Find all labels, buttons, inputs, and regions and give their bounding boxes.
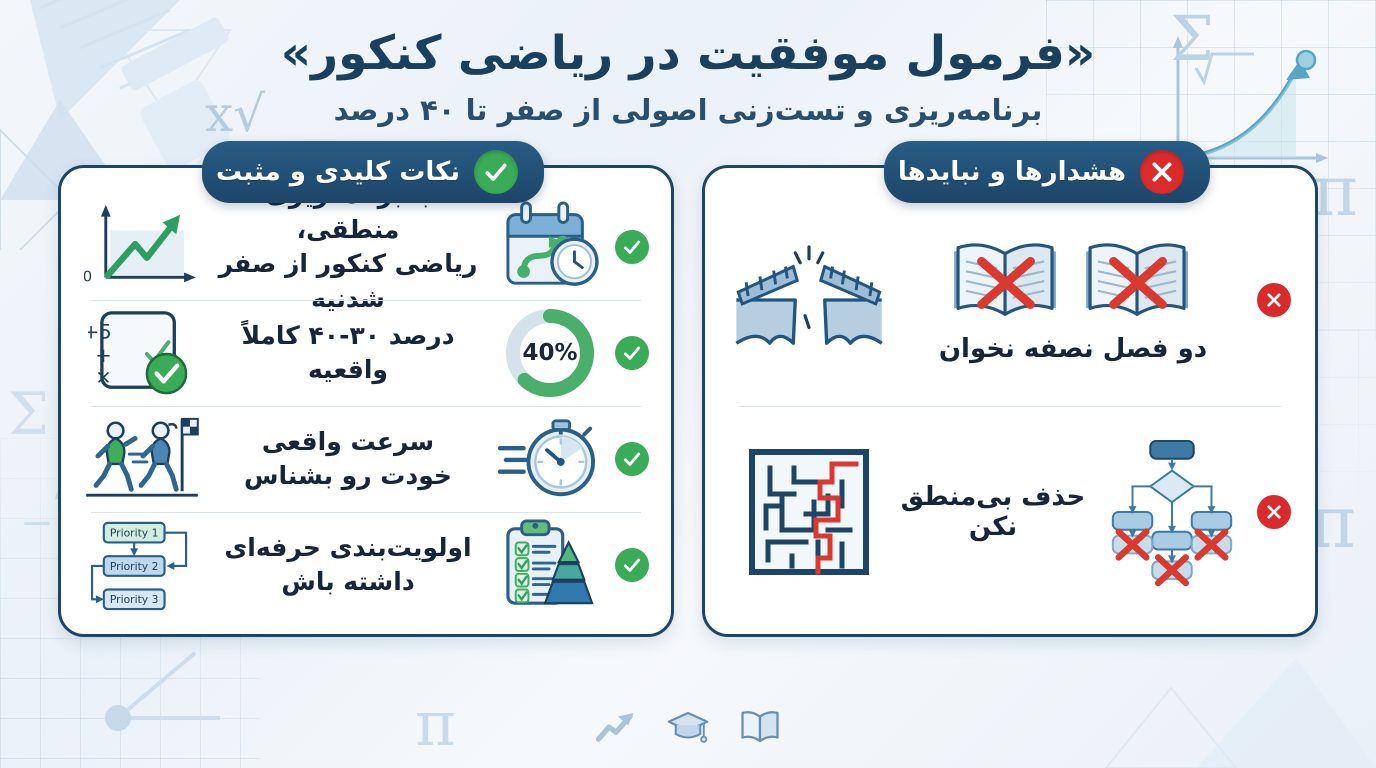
tip-row-4-line1: اولویت‌بندی حرفه‌ای (215, 531, 481, 566)
page-title: «فرمول موفقیت در ریاضی کنکور» (0, 25, 1376, 84)
warning-row-2[interactable]: حذف بی‌منطق نکن (721, 406, 1299, 618)
broken-bridge-icon (729, 245, 889, 355)
calculator-line-3: × ÷ (88, 366, 112, 389)
header: «فرمول موفقیت در ریاضی کنکور» برنامه‌ریز… (0, 0, 1376, 129)
tip-row-4[interactable]: اولویت‌بندی حرفه‌ای داشته باش Priority 1… (77, 512, 655, 618)
page-subtitle: برنامه‌ریزی و تست‌زنی اصولی از صفر تا ۴۰… (0, 92, 1376, 130)
calculator-line-1: 2+5= (88, 321, 112, 344)
crossed-books-icon (948, 236, 1198, 328)
warning-row-1-content: دو فصل نصفه نخوان (899, 236, 1247, 364)
tips-column: نکات کلیدی و مثبت (58, 165, 674, 637)
growth-chart-origin-label: 0 (84, 269, 92, 286)
check-circle-icon (615, 336, 649, 370)
maze-icon (729, 448, 889, 576)
open-book-icon (739, 706, 781, 752)
tip-row-3-line2: خودت رو بشناس (215, 459, 481, 494)
warnings-column: هشدارها و نبایدها (702, 165, 1318, 637)
donut-value-label: 40% (502, 305, 598, 401)
tip-row-3[interactable]: سرعت واقعی خودت رو بشناس (77, 406, 655, 512)
bottom-decoration-icons (0, 706, 1376, 752)
growth-chart-icon: 0 (83, 201, 201, 293)
tip-row-2-line1: درصد ۳۰-۴۰ کاملاً واقعیه (215, 319, 481, 388)
priority-label-2: Priority 2 (110, 560, 159, 573)
clipboard-pyramid-icon (495, 519, 605, 611)
check-circle-icon (615, 442, 649, 476)
calendar-clock-icon (495, 201, 605, 293)
tips-header-label: نکات کلیدی و مثبت (216, 157, 460, 187)
warnings-header-label: هشدارها و نبایدها (898, 157, 1126, 187)
priority-flowchart-icon: Priority 1 Priority 2 Priority 3 (83, 517, 201, 613)
check-circle-icon (474, 150, 518, 194)
calculator-check-icon: 2+5= + − × ÷ (83, 307, 201, 399)
x-circle-icon (1257, 283, 1291, 317)
priority-label-1: Priority 1 (110, 527, 159, 540)
warnings-header-pill[interactable]: هشدارها و نبایدها (884, 141, 1210, 203)
tips-header-pill[interactable]: نکات کلیدی و مثبت (202, 141, 544, 203)
tip-row-3-label: سرعت واقعی خودت رو بشناس (211, 425, 485, 494)
tip-row-1[interactable]: با برنامه‌ریزی منطقی، ریاضی کنکور از صفر… (77, 194, 655, 300)
tip-row-2[interactable]: 40% درصد ۳۰-۴۰ کاملاً واقعیه 2+5= + − × … (77, 300, 655, 406)
tip-row-3-line1: سرعت واقعی (215, 425, 481, 460)
calculator-line-2: + − (88, 344, 112, 367)
warning-row-1-label: دو فصل نصفه نخوان (939, 334, 1207, 364)
warning-row-2-label: حذف بی‌منطق نکن (899, 482, 1087, 542)
trending-up-arrow-icon (595, 706, 637, 752)
stopwatch-icon (495, 413, 605, 505)
x-circle-icon (1257, 495, 1291, 529)
priority-label-3: Priority 3 (110, 594, 159, 607)
check-circle-icon (615, 548, 649, 582)
content-columns: هشدارها و نبایدها (0, 165, 1376, 637)
tip-row-4-line2: داشته باش (215, 565, 481, 600)
graduation-cap-icon (667, 706, 709, 752)
x-circle-icon (1140, 150, 1184, 194)
check-circle-icon (615, 230, 649, 264)
tips-card: با برنامه‌ریزی منطقی، ریاضی کنکور از صفر… (58, 165, 674, 637)
warnings-card: دو فصل نصفه نخوان (702, 165, 1318, 637)
donut-progress-icon: 40% (495, 305, 605, 401)
runners-finish-flag-icon (83, 413, 201, 505)
tip-row-2-label: درصد ۳۰-۴۰ کاملاً واقعیه (211, 319, 485, 388)
warning-row-2-content: حذف بی‌منطق نکن (899, 482, 1087, 542)
warning-row-1[interactable]: دو فصل نصفه نخوان (721, 194, 1299, 406)
crossed-flowchart-icon (1097, 437, 1247, 587)
tip-row-4-label: اولویت‌بندی حرفه‌ای داشته باش (211, 531, 485, 600)
